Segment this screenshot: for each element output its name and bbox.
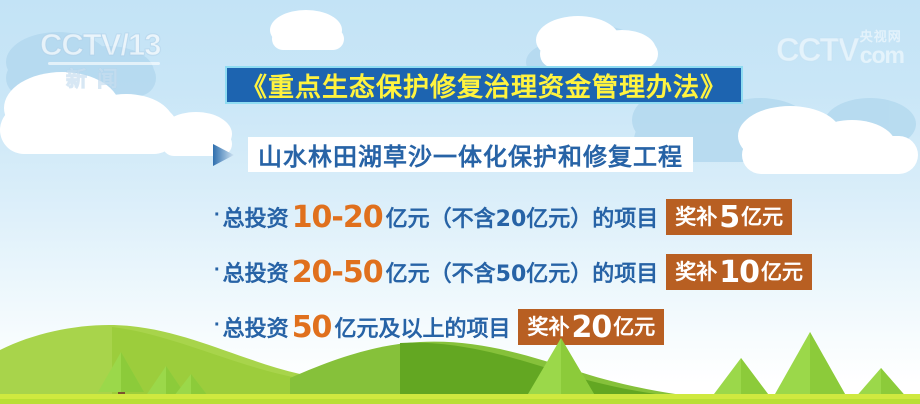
status-badge: 奖补 5 亿元: [666, 199, 792, 235]
bullet-dot-icon: ·: [214, 260, 221, 280]
list-item: · 总投资 20-50 亿元（不含50亿元）的项目 奖补 10 亿元: [214, 253, 812, 291]
broadcast-graphic: CCTV/13 新闻 CCTV 央视网 com 《重点生态保护修复治理资金管理办…: [0, 0, 920, 404]
grass-strip-icon: [0, 394, 920, 399]
logo-sub-label: 新闻: [66, 63, 170, 93]
bullet-suffix: 亿元（不含50亿元）的项目: [386, 256, 659, 288]
page-subtitle: 山水林田湖草沙一体化保护和修复工程: [258, 137, 683, 172]
play-triangle-icon: [208, 140, 238, 170]
badge-amount: 5: [717, 200, 741, 235]
subtitle-bar: 山水林田湖草沙一体化保护和修复工程: [248, 137, 693, 172]
logo-brand-text: CCTV/13: [40, 28, 170, 62]
watermark-com-text: com: [860, 44, 904, 67]
landscape-illustration: [0, 314, 920, 404]
badge-prefix: 奖补: [675, 256, 717, 286]
list-item: · 总投资 10-20 亿元（不含20亿元）的项目 奖补 5 亿元: [214, 198, 812, 236]
cctv-com-watermark: CCTV 央视网 com: [776, 30, 904, 67]
status-badge: 奖补 10 亿元: [666, 254, 812, 290]
bullet-prefix: 总投资: [223, 256, 289, 288]
bullet-suffix: 亿元（不含20亿元）的项目: [386, 201, 659, 233]
logo-slash: /: [120, 27, 128, 62]
page-title: 《重点生态保护修复治理资金管理办法》: [241, 67, 727, 104]
logo-number: 13: [128, 27, 160, 62]
logo-underline: [48, 62, 160, 65]
bullet-dot-icon: ·: [214, 205, 221, 225]
bullet-prefix: 总投资: [223, 201, 289, 233]
subtitle-row: 山水林田湖草沙一体化保护和修复工程: [208, 137, 693, 172]
badge-suffix: 亿元: [761, 256, 803, 286]
badge-amount: 10: [717, 255, 761, 290]
badge-suffix: 亿元: [741, 201, 783, 231]
watermark-right-group: 央视网 com: [860, 30, 904, 67]
tree-canopy-shade-icon: [561, 338, 594, 394]
watermark-cctv-text: CCTV: [776, 33, 858, 67]
badge-prefix: 奖补: [675, 201, 717, 231]
logo-brand: CCTV: [40, 27, 120, 62]
tree-canopy-shade-icon: [741, 358, 771, 398]
bullet-amount: 10-20: [289, 200, 386, 235]
grass-strip-lower-icon: [0, 399, 920, 404]
title-banner: 《重点生态保护修复治理资金管理办法》: [225, 66, 743, 104]
tree-canopy-shade-icon: [810, 332, 845, 394]
cctv13-logo: CCTV/13 新闻: [40, 28, 170, 90]
bullet-amount: 20-50: [289, 255, 386, 290]
